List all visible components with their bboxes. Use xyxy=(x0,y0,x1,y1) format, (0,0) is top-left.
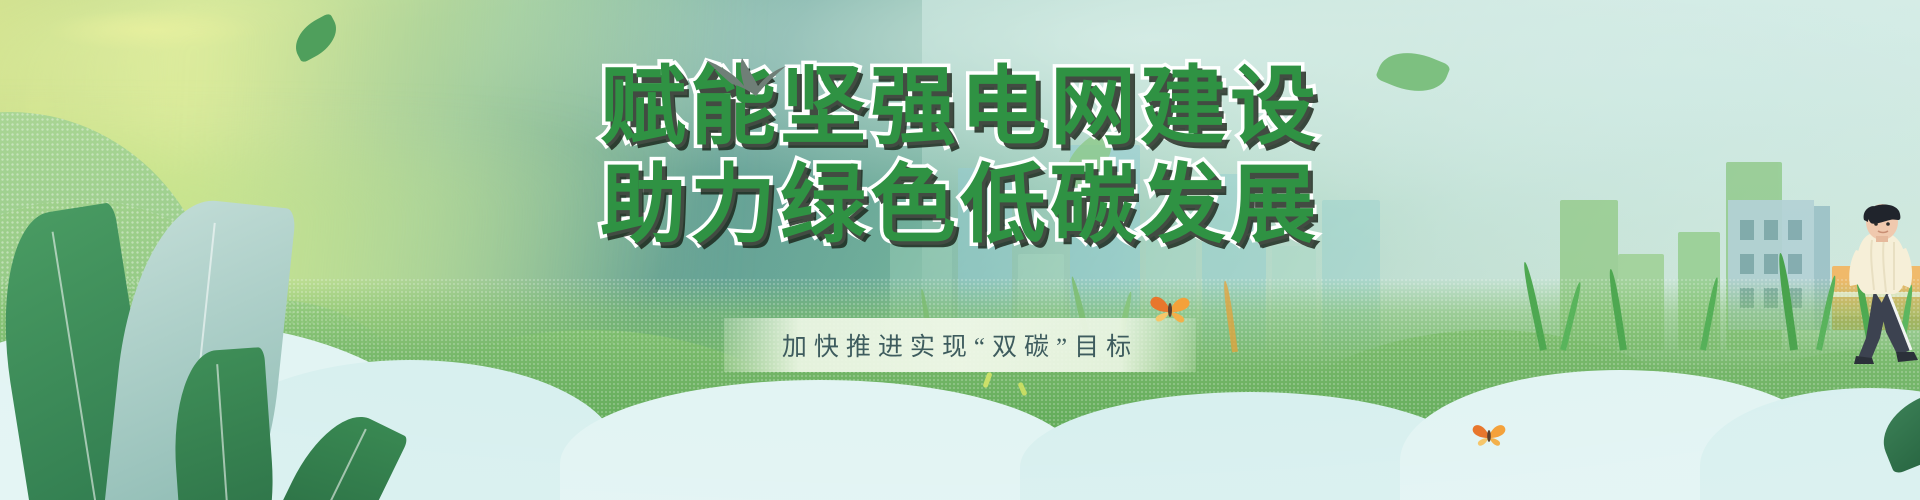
subtitle-text: 加快推进实现“双碳”目标 xyxy=(724,318,1196,372)
butterfly-center-icon xyxy=(1148,292,1192,331)
leaf-foreground-dark-left-2 xyxy=(168,347,280,500)
butterfly-right-icon xyxy=(1470,420,1508,455)
subtitle-block: 加快推进实现“双碳”目标 xyxy=(724,318,1196,372)
eco-power-grid-banner: 赋能坚强电网建设 助力绿色低碳发展 加快推进实现“双碳”目标 xyxy=(0,0,1920,500)
walking-person-illustration xyxy=(1826,198,1920,368)
swallow-bird-icon xyxy=(700,56,790,113)
